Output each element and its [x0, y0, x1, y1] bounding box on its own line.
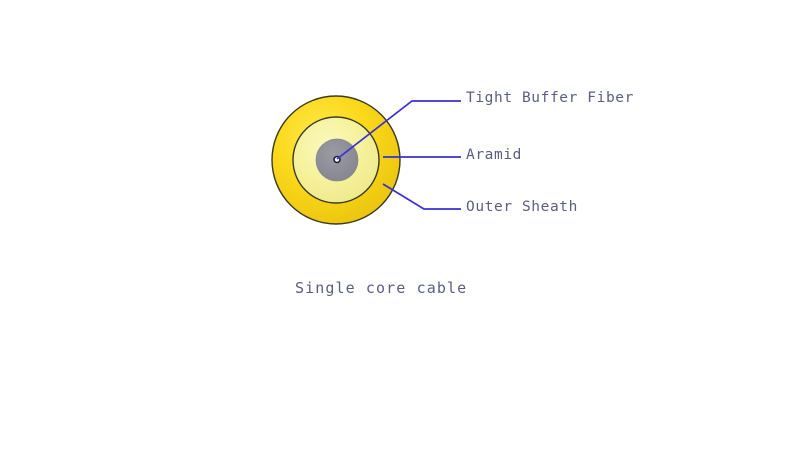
- label-tight-buffer-fiber: Tight Buffer Fiber: [466, 91, 634, 106]
- diagram-caption: Single core cable: [295, 281, 467, 296]
- leader-line-outer-sheath: [383, 184, 461, 209]
- label-aramid: Aramid: [466, 148, 522, 163]
- label-outer-sheath: Outer Sheath: [466, 200, 578, 215]
- cable-cross-section-illustration: [0, 0, 800, 450]
- diagram-canvas: Tight Buffer Fiber Aramid Outer Sheath S…: [0, 0, 800, 450]
